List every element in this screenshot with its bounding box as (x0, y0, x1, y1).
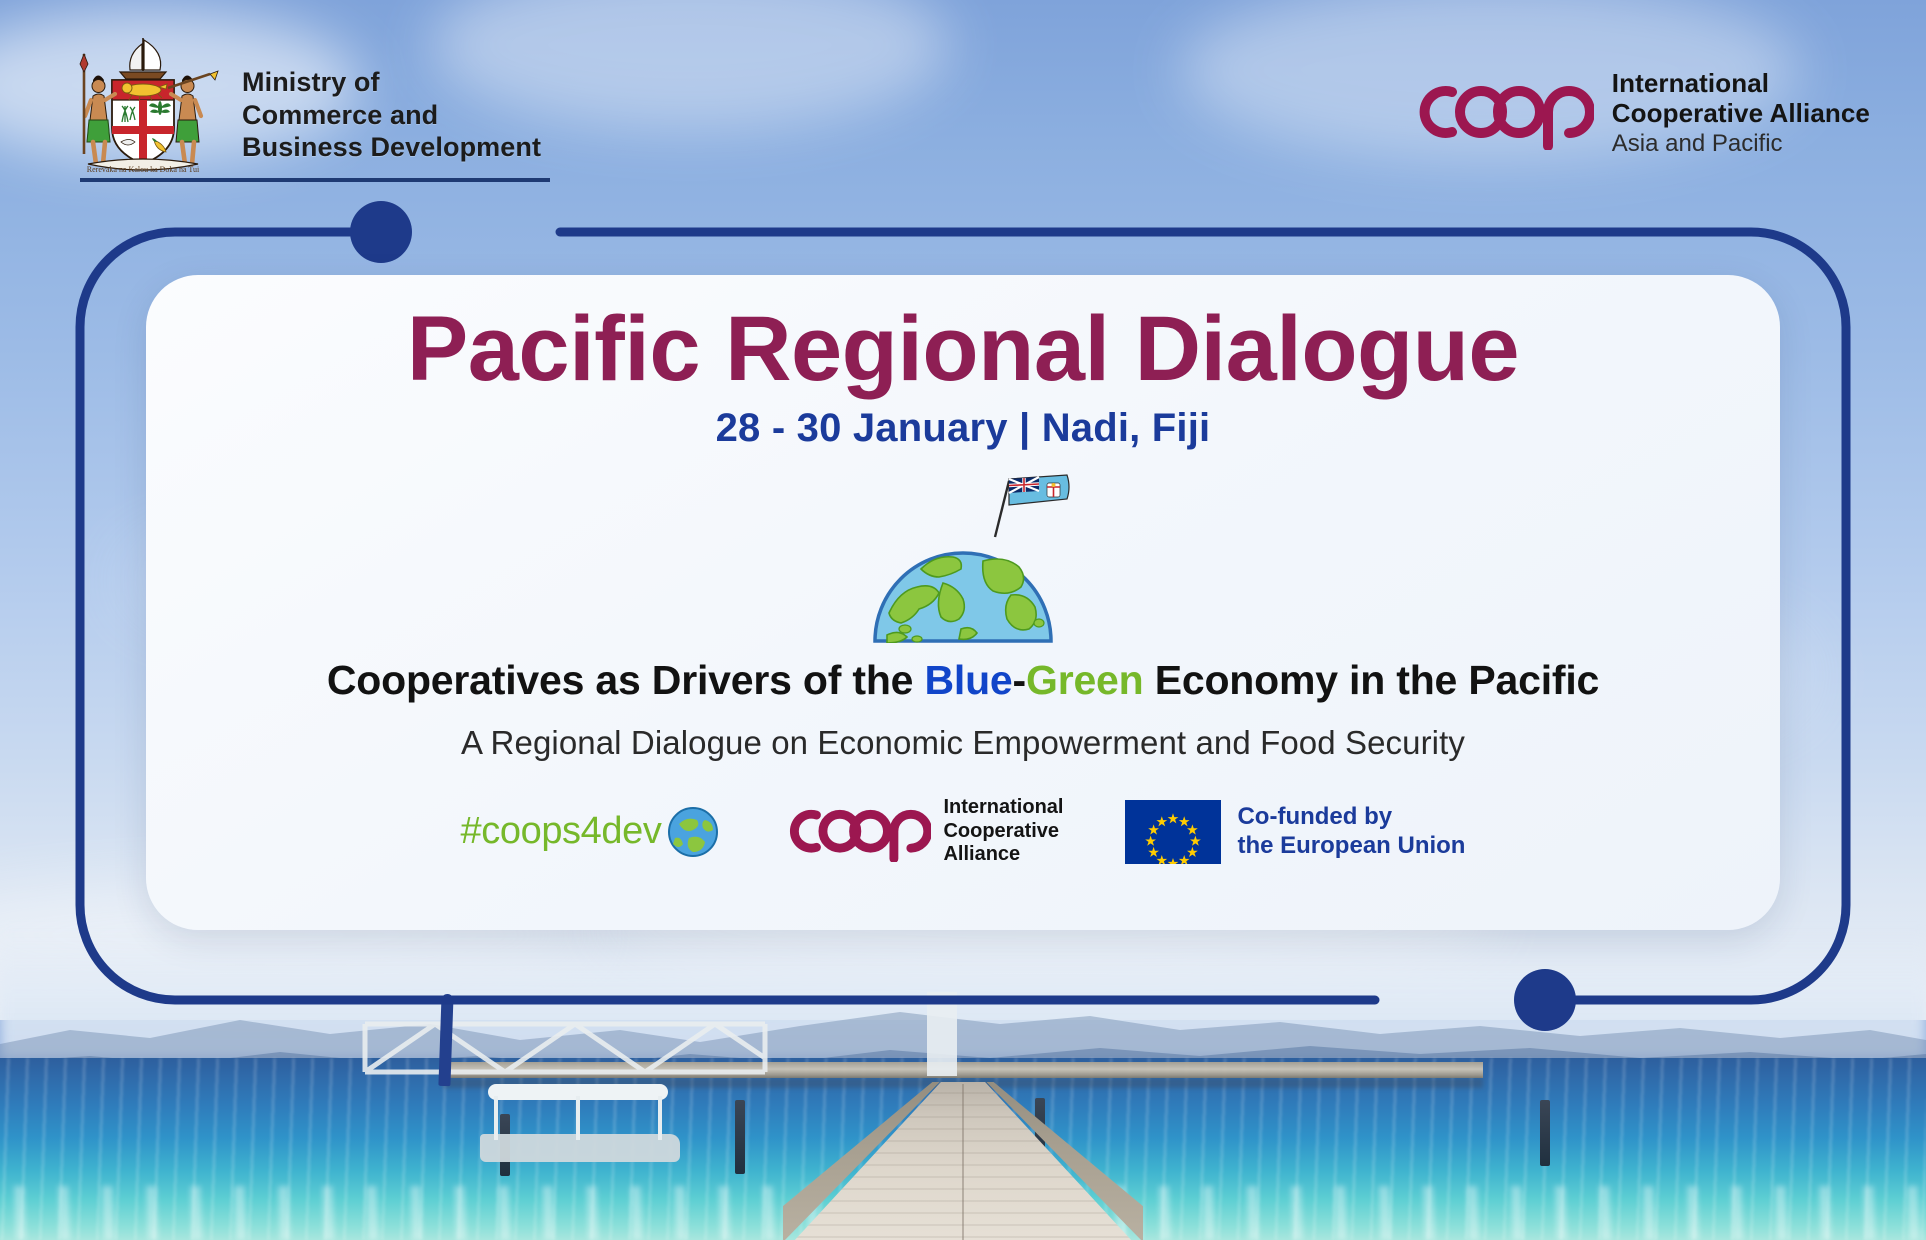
ministry-line-2: Commerce and (242, 99, 541, 132)
coop-logo-icon (1408, 76, 1594, 150)
boat-post (494, 1096, 498, 1140)
ica-line-3: Asia and Pacific (1612, 130, 1870, 158)
ica-footer-line-1: International (943, 796, 1063, 820)
ministry-line-3: Business Development (242, 131, 541, 164)
tagline-before: Cooperatives as Drivers of the (327, 657, 925, 703)
page-title: Pacific Regional Dialogue (407, 299, 1519, 400)
european-union-flag-icon (1125, 800, 1221, 864)
coops4dev-logo: #coops4dev (461, 806, 720, 858)
moored-boat (480, 1082, 680, 1162)
event-tagline: Cooperatives as Drivers of the Blue-Gree… (327, 657, 1599, 704)
eu-funding-logo: Co-funded by the European Union (1125, 800, 1465, 864)
partner-logo-row: #coops4dev (461, 796, 1466, 867)
ministry-line-1: Ministry of (242, 66, 541, 99)
ica-footer-wordmark: International Cooperative Alliance (943, 796, 1063, 867)
tagline-dash: - (1013, 657, 1026, 703)
event-banner: Rerevaka na Kalou ka Doka na Tui Ministr… (0, 0, 1926, 1240)
ica-line-1: International (1612, 68, 1870, 98)
ministry-underline (80, 178, 550, 182)
warrior-left (80, 54, 115, 164)
event-strapline: A Regional Dialogue on Economic Empowerm… (461, 724, 1465, 762)
piling (1540, 1100, 1550, 1166)
ica-footer-line-3: Alliance (943, 843, 1063, 867)
pier-centerline (962, 1084, 964, 1240)
ministry-title: Ministry of Commerce and Business Develo… (242, 66, 541, 164)
ica-footer-line-2: Cooperative (943, 820, 1063, 844)
coop-logo-icon (781, 802, 931, 862)
globe-with-fiji-flag-icon (843, 463, 1083, 643)
warrior-right (168, 71, 218, 164)
tagline-blue-word: Blue (924, 657, 1012, 703)
eu-line-1: Co-funded by (1237, 803, 1465, 832)
eu-funding-text: Co-funded by the European Union (1237, 803, 1465, 861)
ica-wordmark: International Cooperative Alliance Asia … (1612, 68, 1870, 158)
white-marker-post (927, 992, 957, 1076)
pier (0, 1040, 1926, 1240)
ministry-logo-block: Rerevaka na Kalou ka Doka na Tui Ministr… (60, 24, 541, 180)
globe-emoji-icon (667, 806, 719, 858)
boat-post (658, 1096, 662, 1140)
tagline-green-word: Green (1026, 657, 1144, 703)
content-card: Pacific Regional Dialogue 28 - 30 Januar… (146, 275, 1780, 930)
boat-post (576, 1096, 580, 1140)
svg-text:Rerevaka na Kalou ka Doka na T: Rerevaka na Kalou ka Doka na Tui (87, 165, 200, 174)
eu-line-2: the European Union (1237, 832, 1465, 861)
gantry-truss (355, 1014, 775, 1082)
ica-line-2: Cooperative Alliance (1612, 98, 1870, 128)
tagline-after: Economy in the Pacific (1144, 657, 1600, 703)
fiji-coat-of-arms-icon: Rerevaka na Kalou ka Doka na Tui (60, 24, 226, 180)
coops4dev-label: #coops4dev (461, 810, 662, 853)
banner-header: Rerevaka na Kalou ka Doka na Tui Ministr… (0, 0, 1926, 200)
globe-illustration (843, 463, 1083, 643)
ica-logo-block: International Cooperative Alliance Asia … (1408, 68, 1870, 158)
piling (735, 1100, 745, 1174)
event-dates-location: 28 - 30 January | Nadi, Fiji (716, 406, 1211, 451)
boat-hull (480, 1134, 680, 1162)
ica-footer-logo: International Cooperative Alliance (781, 796, 1063, 867)
